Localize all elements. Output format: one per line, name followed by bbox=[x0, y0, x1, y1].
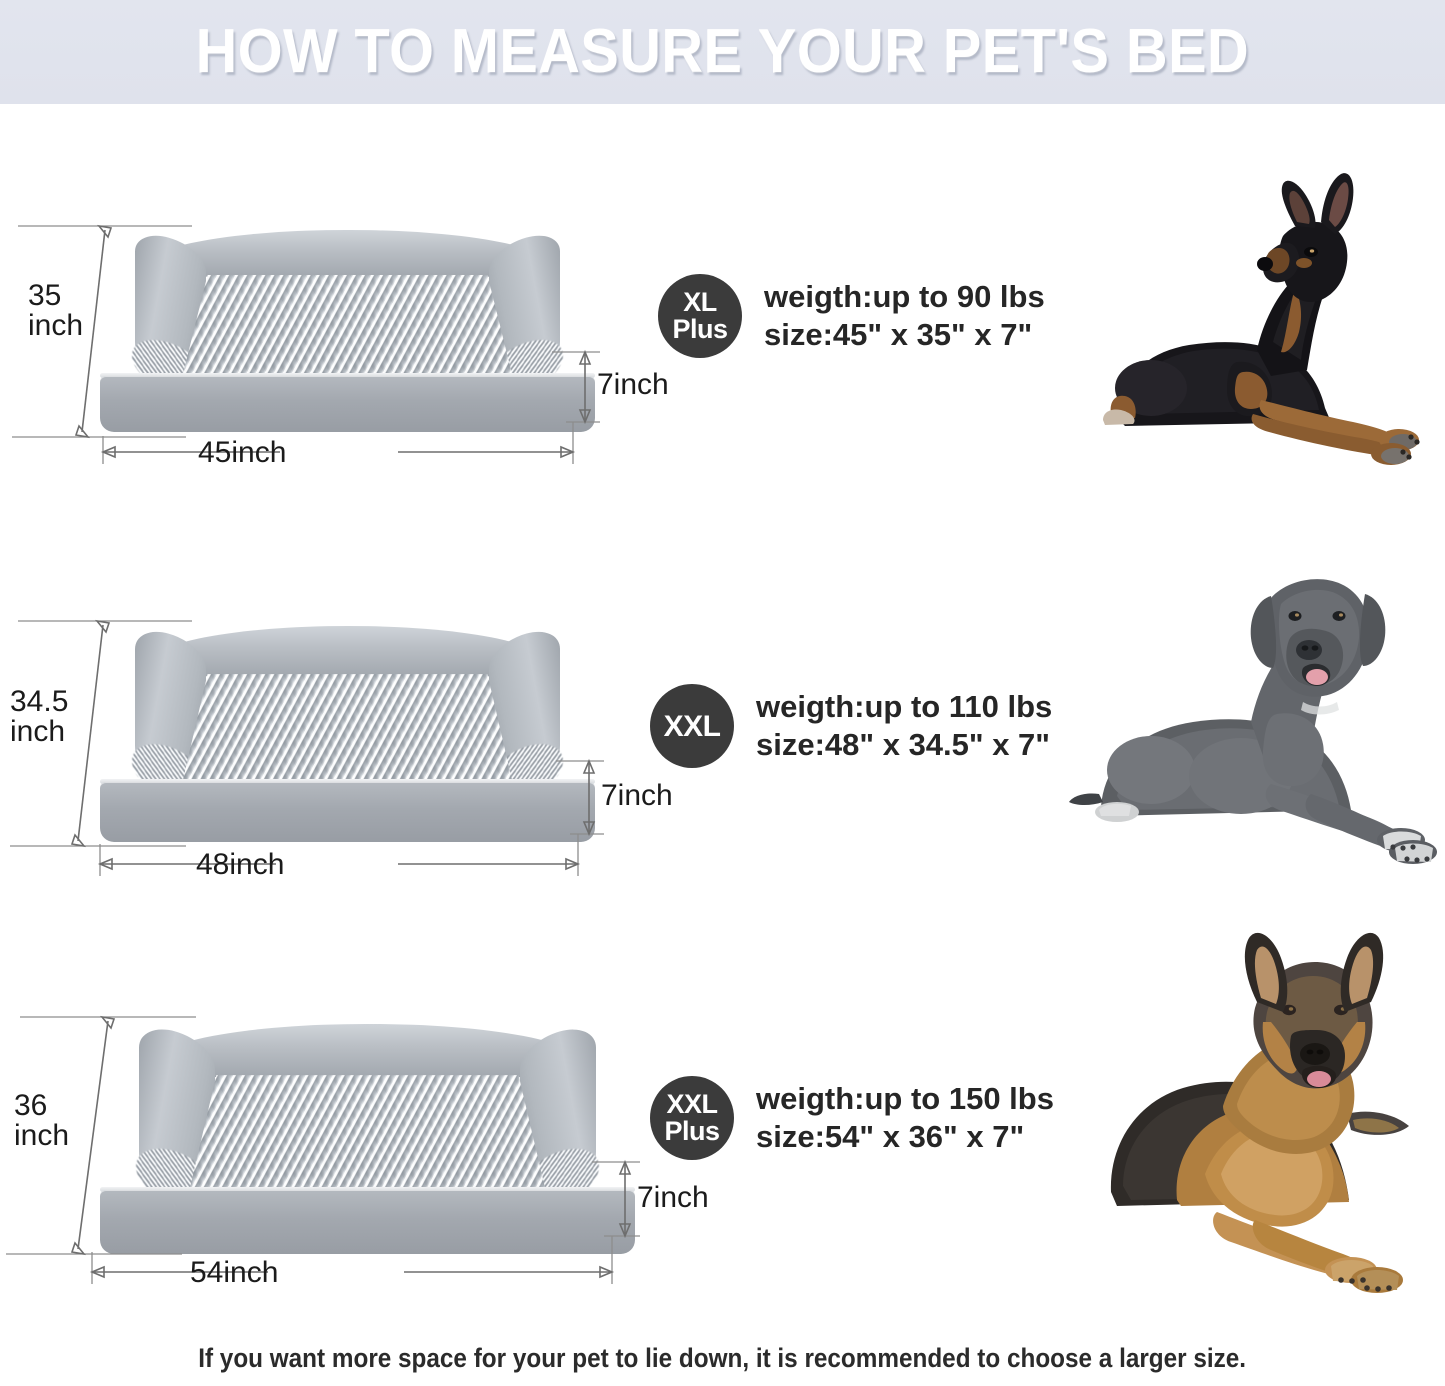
bed-foam-base bbox=[100, 782, 595, 842]
bed-diagram-xxl-plus: 36 inch 54inch 7inch bbox=[0, 924, 700, 1324]
badge-line-2: Plus bbox=[672, 316, 727, 343]
size-spec: size:45" x 35" x 7" bbox=[764, 316, 1045, 354]
size-spec: size:48" x 34.5" x 7" bbox=[756, 726, 1052, 764]
depth-value: 36 bbox=[14, 1091, 69, 1121]
depth-dimension-label: 34.5 inch bbox=[10, 687, 68, 747]
depth-value: 35 bbox=[28, 281, 83, 311]
bed-illustration bbox=[95, 1009, 640, 1254]
dog-photo-german-shepherd bbox=[1065, 924, 1445, 1294]
bed-foam-base bbox=[100, 1190, 634, 1254]
bed-diagram-xl-plus: 35 inch 45inch 7inch bbox=[0, 104, 700, 524]
bed-cushion-surface bbox=[188, 1075, 548, 1198]
width-dimension-label: 54inch bbox=[190, 1257, 278, 1288]
weight-spec: weigth:up to 90 lbs bbox=[764, 278, 1045, 316]
size-spec: size:54" x 36" x 7" bbox=[756, 1118, 1054, 1156]
spec-block-xl-plus: XL Plus weigth:up to 90 lbs size:45" x 3… bbox=[658, 274, 1045, 358]
dog-photo-great-dane bbox=[1065, 544, 1445, 874]
spec-text-xxl: weigth:up to 110 lbs size:48" x 34.5" x … bbox=[756, 688, 1052, 764]
badge-line-1: XXL bbox=[666, 1091, 717, 1118]
weight-spec: weigth:up to 150 lbs bbox=[756, 1080, 1054, 1118]
badge-line-1: XL bbox=[683, 289, 717, 316]
depth-dimension-label: 35 inch bbox=[28, 281, 83, 341]
spec-block-xxl: XXL weigth:up to 110 lbs size:48" x 34.5… bbox=[650, 684, 1052, 768]
size-badge-xl-plus: XL Plus bbox=[658, 274, 742, 358]
bed-illustration bbox=[95, 612, 600, 842]
badge-line-2: Plus bbox=[664, 1118, 719, 1145]
footer-note: If you want more space for your pet to l… bbox=[0, 1330, 1445, 1386]
header-banner: HOW TO MEASURE YOUR PET'S BED bbox=[0, 0, 1445, 104]
depth-unit: inch bbox=[14, 1121, 69, 1151]
bed-cushion-surface bbox=[181, 275, 514, 383]
spec-text-xl-plus: weigth:up to 90 lbs size:45" x 35" x 7" bbox=[764, 278, 1045, 354]
width-dimension-label: 48inch bbox=[196, 849, 284, 880]
size-badge-xxl: XXL bbox=[650, 684, 734, 768]
footer-text: If you want more space for your pet to l… bbox=[199, 1343, 1247, 1374]
spec-block-xxl-plus: XXL Plus weigth:up to 150 lbs size:54" x… bbox=[650, 1076, 1054, 1160]
page-title: HOW TO MEASURE YOUR PET'S BED bbox=[196, 21, 1249, 83]
size-row-xxl: 34.5 inch 48inch 7inch XXL weigth:up to … bbox=[0, 524, 1445, 924]
depth-dimension-label: 36 inch bbox=[14, 1091, 69, 1151]
width-dimension-label: 45inch bbox=[198, 437, 286, 468]
pet-bed-size-chart: HOW TO MEASURE YOUR PET'S BED bbox=[0, 0, 1445, 1386]
size-row-xl-plus: 35 inch 45inch 7inch XL Plus weigth:up t… bbox=[0, 104, 1445, 524]
spec-text-xxl-plus: weigth:up to 150 lbs size:54" x 36" x 7" bbox=[756, 1080, 1054, 1156]
bed-cushion-surface bbox=[181, 674, 514, 789]
size-badge-xxl-plus: XXL Plus bbox=[650, 1076, 734, 1160]
height-dimension-label: 7inch bbox=[601, 780, 673, 811]
dog-photo-doberman-pinscher bbox=[1085, 164, 1435, 484]
bed-diagram-xxl: 34.5 inch 48inch 7inch bbox=[0, 524, 700, 924]
depth-unit: inch bbox=[28, 311, 83, 341]
height-dimension-label: 7inch bbox=[597, 369, 669, 400]
depth-value: 34.5 bbox=[10, 687, 68, 717]
size-row-xxl-plus: 36 inch 54inch 7inch XXL Plus weigth:up … bbox=[0, 924, 1445, 1324]
bed-foam-base bbox=[100, 376, 595, 432]
bed-illustration bbox=[95, 217, 600, 432]
depth-unit: inch bbox=[10, 717, 68, 747]
badge-line-1: XXL bbox=[664, 713, 721, 740]
height-dimension-label: 7inch bbox=[637, 1182, 709, 1213]
weight-spec: weigth:up to 110 lbs bbox=[756, 688, 1052, 726]
